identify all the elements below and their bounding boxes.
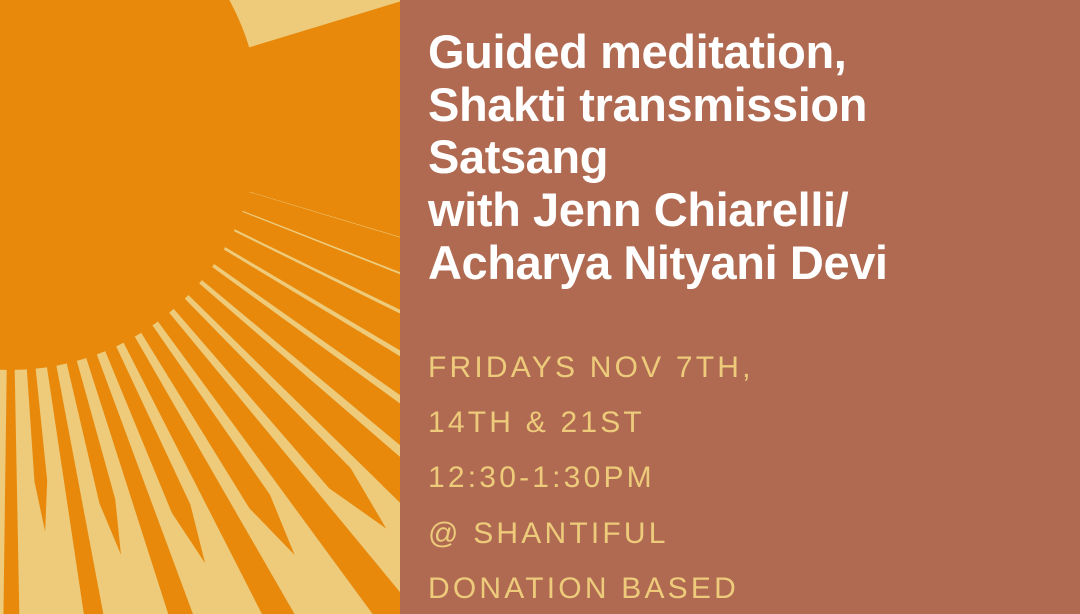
headline-line-2: Shakti transmission xyxy=(428,79,1060,132)
detail-dates-line-1: FRIDAYS NOV 7TH, xyxy=(428,340,1060,395)
page-title: Guided meditation, Shakti transmission S… xyxy=(428,26,1060,289)
event-details: FRIDAYS NOV 7TH, 14TH & 21ST 12:30-1:30P… xyxy=(428,340,1060,614)
headline-line-5: Acharya Nityani Devi xyxy=(428,237,1060,290)
text-panel: Guided meditation, Shakti transmission S… xyxy=(400,0,1080,614)
detail-venue: @ SHANTIFUL xyxy=(428,506,1060,561)
detail-dates-line-2: 14TH & 21ST xyxy=(428,395,1060,450)
headline-line-3: Satsang xyxy=(428,131,1060,184)
sunburst-icon xyxy=(0,0,400,614)
headline-line-4: with Jenn Chiarelli/ xyxy=(428,184,1060,237)
detail-price: DONATION BASED xyxy=(428,561,1060,614)
event-flyer: Guided meditation, Shakti transmission S… xyxy=(0,0,1080,614)
headline-line-1: Guided meditation, xyxy=(428,26,1060,79)
sunburst-panel xyxy=(0,0,400,614)
detail-time: 12:30-1:30PM xyxy=(428,450,1060,505)
